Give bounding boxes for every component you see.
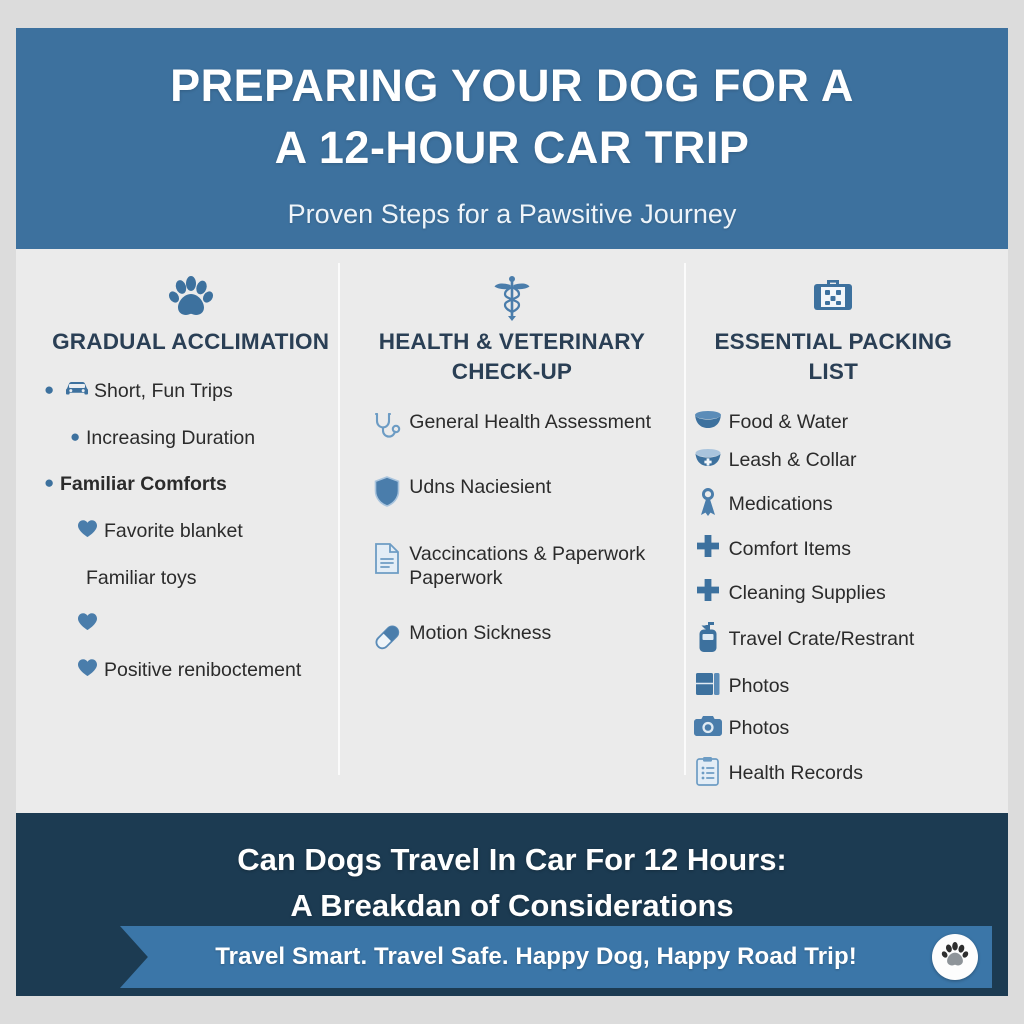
title-line-2: A 12-HOUR CAR TRIP (56, 117, 968, 179)
list-item: Udns Naciesient (365, 475, 658, 512)
poster-footer: Can Dogs Travel In Car For 12 Hours: A B… (16, 813, 1008, 996)
bowl-icon (687, 410, 729, 435)
ribbon-icon (687, 487, 729, 522)
column-divider-2 (684, 263, 686, 775)
list-item: Favorite blanket (44, 519, 337, 544)
list-item: Positive reniboctement (44, 658, 337, 683)
list-item-label: Short, Fun Trips (94, 379, 337, 404)
list-item: Familiar toys (44, 566, 337, 591)
list-item-label: Increasing Duration (86, 426, 337, 451)
list-item-label: Photos (729, 716, 980, 741)
heart-icon (70, 658, 104, 682)
footer-ribbon: Travel Smart. Travel Safe. Happy Dog, Ha… (120, 926, 992, 988)
list-item: Photos (687, 671, 980, 702)
list-item-label: Familiar Comforts (60, 472, 337, 497)
column-title-health-veterinary: HEALTH & VETERINARY CHECK-UP (365, 327, 658, 388)
page-title: PREPARING YOUR DOG FOR A A 12-HOUR CAR T… (56, 55, 968, 179)
paw-print-icon (941, 941, 969, 973)
camera-icon (687, 714, 729, 743)
list-item: Leash & Collar (687, 447, 980, 474)
list-item: Vaccincations & Paperwork Paperwork (365, 542, 658, 591)
document-icon (365, 542, 409, 579)
footer-title-line-1: Can Dogs Travel In Car For 12 Hours: (237, 842, 787, 877)
list-item-label: Photos (729, 674, 980, 699)
car-icon (60, 379, 94, 402)
list-item-label: Cleaning Supplies (729, 581, 980, 606)
bowl-cross-icon (687, 447, 729, 474)
list-item-label: Familiar toys (86, 566, 337, 591)
plus-icon (687, 534, 729, 565)
list-item: Cleaning Supplies (687, 578, 980, 609)
list-item-label: Medications (729, 492, 980, 517)
list-item-label: Leash & Collar (729, 448, 980, 473)
list-item: ● Increasing Duration (44, 426, 337, 451)
plus-icon (687, 578, 729, 609)
bullet-icon: ● (44, 379, 60, 402)
list-item: Health Records (687, 756, 980, 791)
infographic-poster: PREPARING YOUR DOG FOR A A 12-HOUR CAR T… (16, 28, 1008, 996)
list-item (44, 612, 337, 636)
ribbon-banner: Travel Smart. Travel Safe. Happy Dog, Ha… (120, 926, 992, 988)
column-divider-1 (338, 263, 340, 775)
list-item-label: Udns Naciesient (409, 475, 658, 500)
bullet-icon: ● (44, 472, 60, 495)
list-item: Travel Crate/Restrant (687, 621, 980, 658)
ribbon-text: Travel Smart. Travel Safe. Happy Dog, Ha… (215, 943, 897, 971)
list-item-label: Travel Crate/Restrant (729, 627, 980, 652)
columns-container: GRADUAL ACCLIMATION ● (16, 249, 1008, 813)
suitcase-medical-icon (687, 275, 980, 321)
list-item-label: Health Records (729, 761, 980, 786)
column-packing-list: ESSENTIAL PACKING LIST Food & Water (673, 275, 994, 803)
list-item-label: Vaccincations & Paperwork Paperwork (409, 542, 658, 591)
paw-badge (932, 934, 978, 980)
list-packing-list: Food & Water Leash & Collar (687, 410, 980, 791)
title-line-1: PREPARING YOUR DOG FOR A (170, 60, 854, 111)
heart-icon (70, 519, 104, 543)
column-health-veterinary: HEALTH & VETERINARY CHECK-UP (351, 275, 672, 803)
paw-print-icon (44, 275, 337, 321)
stethoscope-icon (365, 410, 409, 446)
list-item: Photos (687, 714, 980, 743)
pill-icon (365, 621, 409, 657)
poster-header: PREPARING YOUR DOG FOR A A 12-HOUR CAR T… (16, 28, 1008, 249)
page-subtitle: Proven Steps for a Pawsitive Journey (56, 199, 968, 230)
list-item: ● Short, Fun Trips (44, 379, 337, 404)
caduceus-icon (365, 275, 658, 321)
heart-icon (70, 612, 104, 636)
column-title-gradual-acclimation: GRADUAL ACCLIMATION (44, 327, 337, 357)
shield-icon (365, 475, 409, 512)
clipboard-icon (687, 756, 729, 791)
list-item: Medications (687, 487, 980, 522)
list-gradual-acclimation: ● Short, Fun Trips (44, 379, 337, 682)
list-item-label: Motion Sickness (409, 621, 658, 646)
list-item-label: General Health Assessment (409, 410, 658, 435)
spray-bottle-icon (687, 621, 729, 658)
list-item: Motion Sickness (365, 621, 658, 657)
list-item-label: Favorite blanket (104, 519, 337, 544)
list-item: Food & Water (687, 410, 980, 435)
list-item-label: Comfort Items (729, 537, 980, 562)
footer-title-line-2: A Breakdan of Considerations (46, 883, 978, 929)
list-item-label: Food & Water (729, 410, 980, 435)
column-title-packing-list: ESSENTIAL PACKING LIST (687, 327, 980, 388)
list-item: ● Familiar Comforts (44, 472, 337, 497)
column-gradual-acclimation: GRADUAL ACCLIMATION ● (30, 275, 351, 803)
list-item: Comfort Items (687, 534, 980, 565)
footer-title: Can Dogs Travel In Car For 12 Hours: A B… (46, 837, 978, 929)
list-item-label: Positive reniboctement (104, 658, 337, 683)
bullet-icon: ● (70, 426, 86, 449)
book-icon (687, 671, 729, 702)
list-item: General Health Assessment (365, 410, 658, 446)
list-health-veterinary: General Health Assessment Udns Naciesien… (365, 410, 658, 657)
